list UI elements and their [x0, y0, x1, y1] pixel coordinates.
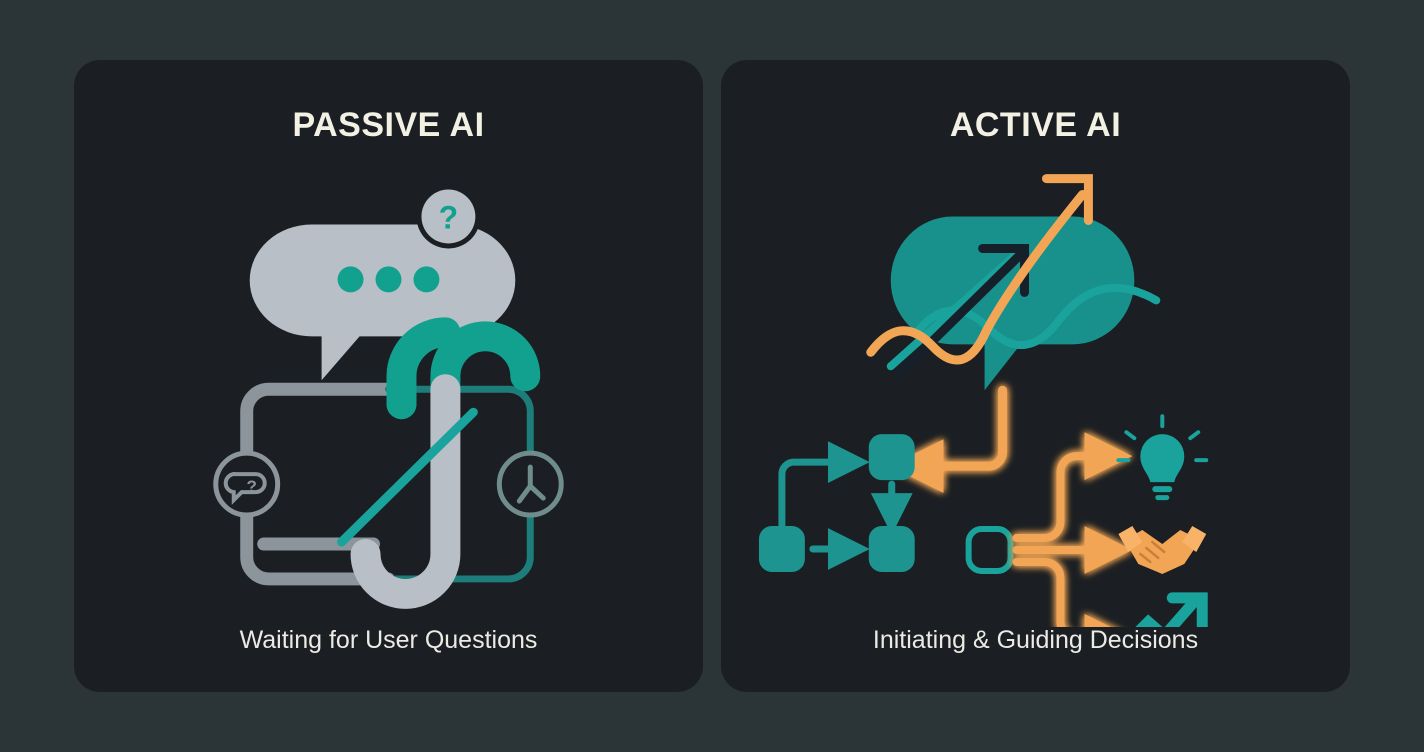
card-caption-passive: Waiting for User Questions — [240, 627, 538, 655]
typing-dots-icon — [338, 266, 440, 292]
flow-node-outline-icon — [969, 529, 1011, 571]
passive-ai-illustration: ? — [74, 142, 703, 627]
active-ai-illustration — [721, 142, 1350, 627]
comparison-layout: PASSIVE AI ? — [0, 0, 1424, 752]
svg-text:?: ? — [439, 199, 459, 235]
svg-text:?: ? — [247, 477, 257, 496]
speech-bubble-icon — [250, 225, 516, 381]
card-passive-ai: PASSIVE AI ? — [74, 60, 703, 692]
orange-arrow-icon — [1017, 456, 1109, 626]
question-chat-badge-icon: ? — [216, 453, 278, 515]
lightbulb-icon — [1118, 416, 1206, 500]
passive-ai-art-svg: ? — [74, 142, 703, 627]
question-badge-icon: ? — [416, 185, 480, 249]
orange-arrow-icon — [917, 390, 1003, 466]
clock-badge-icon — [499, 453, 561, 515]
rounded-frame-icon — [247, 389, 531, 579]
card-active-ai: ACTIVE AI — [721, 60, 1350, 692]
card-title-active: ACTIVE AI — [950, 108, 1121, 142]
teal-blob-icon — [891, 217, 1135, 391]
card-caption-active: Initiating & Guiding Decisions — [873, 627, 1198, 655]
active-ai-art-svg — [721, 142, 1350, 627]
s-curve-hook-icon — [366, 332, 526, 594]
handshake-icon — [1118, 526, 1206, 574]
trend-up-icon — [1124, 598, 1202, 627]
card-title-passive: PASSIVE AI — [292, 108, 484, 142]
